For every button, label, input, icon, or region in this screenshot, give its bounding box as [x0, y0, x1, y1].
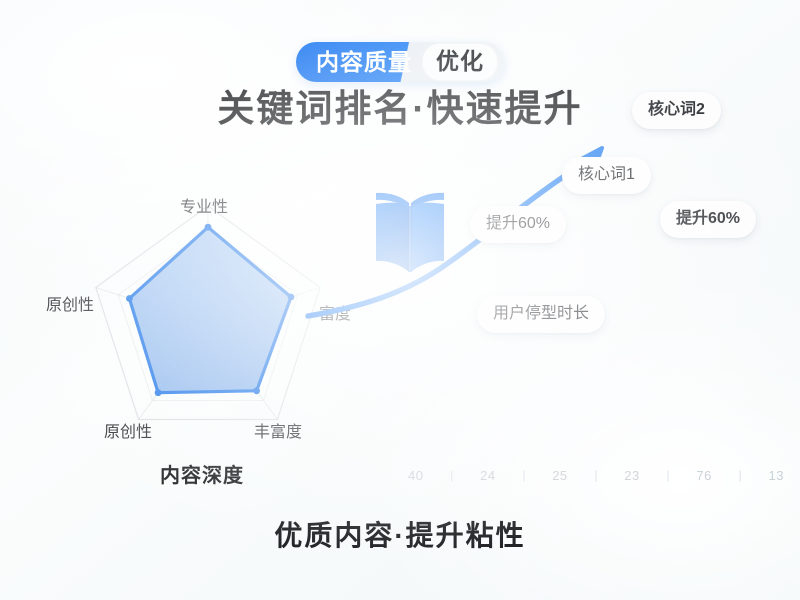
open-book-icon — [372, 186, 448, 278]
baseline-tick-row: 40|24|25|23|76|13 — [408, 463, 784, 487]
radar-label-bottom-left: 原创性 — [104, 425, 152, 441]
radar-label-top: 专业性 — [180, 200, 228, 216]
baseline-tick-mark: | — [522, 469, 525, 481]
baseline-tick-number: 23 — [624, 469, 639, 482]
badge-chip-label: 优化 — [422, 43, 498, 81]
radar-chart-svg — [38, 186, 378, 466]
poster-canvas: 内容质量 优化 关键词排名·快速提升 专业性 富度 丰富度 原创性 原创性 — [0, 0, 800, 600]
badge-content-quality: 内容质量 优化 — [296, 42, 504, 82]
footer-slogan: 优质内容·提升粘性 — [0, 522, 800, 550]
radar-data-area — [129, 227, 291, 393]
baseline-tick-mark: | — [667, 469, 670, 481]
open-book-icon-svg — [372, 186, 448, 278]
caption-content-depth: 内容深度 — [160, 466, 244, 486]
baseline-tick-number: 76 — [696, 469, 711, 482]
callout-core-keyword-1: 核心词1 — [562, 157, 651, 194]
baseline-tick-number: 25 — [552, 469, 567, 482]
baseline-tick-mark: | — [594, 469, 597, 481]
radar-label-left: 原创性 — [46, 298, 94, 314]
callout-increase-left: 提升60% — [470, 206, 566, 243]
callout-user-dwell-time: 用户停型时长 — [477, 296, 605, 333]
baseline-tick-mark: | — [450, 469, 453, 481]
baseline-tick-number: 13 — [768, 469, 783, 482]
baseline-tick-number: 24 — [480, 469, 495, 482]
radar-label-bottom-right: 丰富度 — [254, 425, 302, 441]
radar-chart: 专业性 富度 丰富度 原创性 原创性 — [38, 186, 378, 466]
callout-increase-right: 提升60% — [660, 201, 756, 238]
radar-label-right: 富度 — [319, 307, 351, 323]
baseline-tick-mark: | — [739, 469, 742, 481]
baseline-tick-number: 40 — [408, 469, 423, 482]
badge-main-label: 内容质量 — [316, 51, 422, 74]
callout-core-keyword-2: 核心词2 — [632, 92, 721, 129]
